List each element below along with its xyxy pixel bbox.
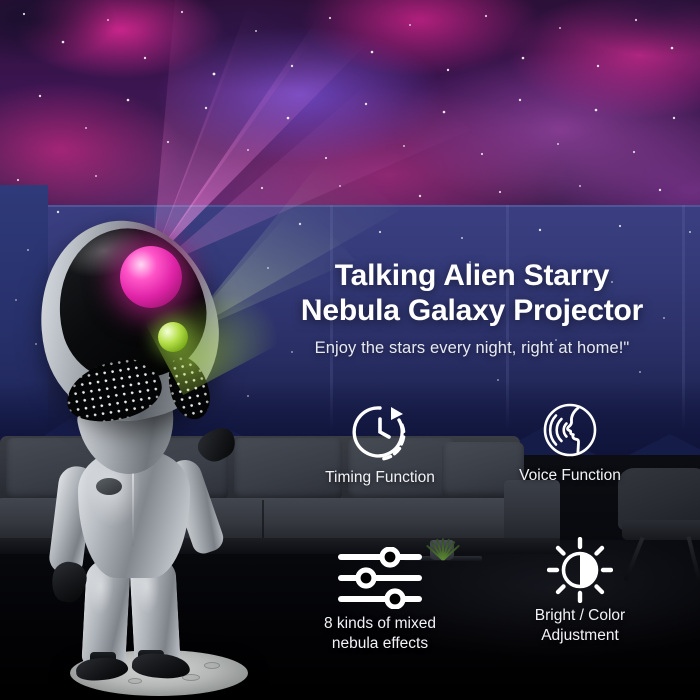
- feature-voice: Voice Function: [490, 400, 650, 486]
- headline-line-2: Nebula Galaxy Projector: [262, 293, 682, 328]
- feature-timing-label: Timing Function: [300, 468, 460, 488]
- feature-timing: Timing Function: [300, 402, 460, 488]
- feature-brightness: Bright / Color Adjustment: [490, 540, 670, 646]
- page-title: Talking Alien Starry Nebula Galaxy Proje…: [262, 258, 682, 328]
- projector-lens-magenta: [120, 246, 182, 308]
- feature-nebula-effects: 8 kinds of mixed nebula effects: [290, 548, 470, 654]
- headline-line-1: Talking Alien Starry: [262, 258, 682, 293]
- clock-timer-icon: [351, 403, 409, 461]
- subheadline: Enjoy the stars every night, right at ho…: [262, 339, 682, 358]
- voice-speaking-face-icon: [541, 401, 599, 459]
- alien-projector-character: [28, 214, 258, 684]
- feature-voice-label: Voice Function: [490, 466, 650, 486]
- product-marketing-poster: Talking Alien Starry Nebula Galaxy Proje…: [0, 0, 700, 700]
- spacesuit-chest-patch: [96, 478, 122, 495]
- feature-brightness-label: Bright / Color Adjustment: [490, 606, 670, 646]
- brightness-half-sun-icon: [547, 537, 613, 603]
- alien-glove-right: [193, 423, 241, 467]
- projector-lens-green: [158, 322, 188, 352]
- feature-nebula-label: 8 kinds of mixed nebula effects: [290, 614, 470, 654]
- window-mullion-horizontal: [48, 205, 700, 207]
- sliders-icon: [335, 547, 425, 609]
